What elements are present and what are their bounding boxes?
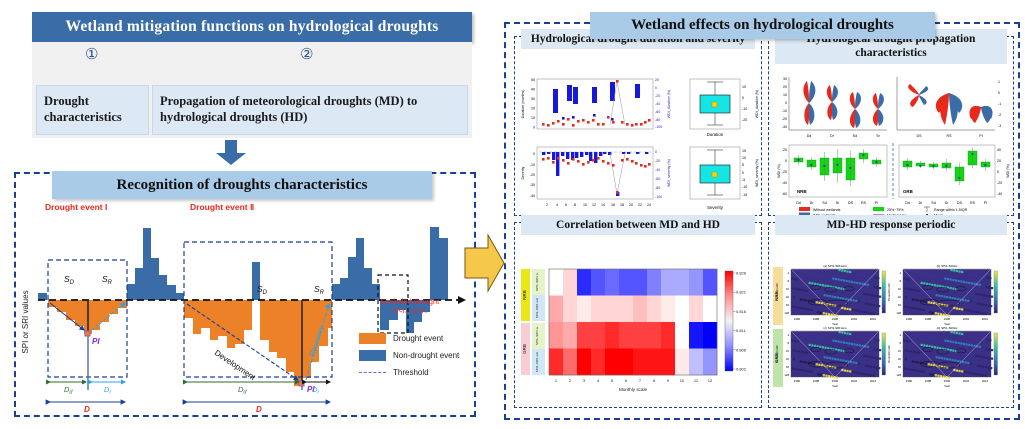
wavelet-x-tick: 1988: [813, 317, 820, 321]
event-1-sr-label: SR: [102, 274, 113, 286]
concept-box-propagation: Propagation of meteorological droughts (…: [152, 85, 468, 135]
wavelet-y-tick: 8: [787, 279, 789, 283]
circled-number-1: ①: [85, 45, 98, 63]
svg-text:Sd: Sd: [822, 201, 826, 205]
wavelet-y-tick: 16: [898, 349, 902, 353]
legend-label-threshold: Threshold: [393, 368, 429, 377]
svg-text:10: 10: [742, 156, 746, 160]
svg-text:Dd: Dd: [807, 134, 812, 138]
svg-text:20: 20: [783, 148, 787, 152]
wavelet-panel: (a) SPI1-SRI1w/oPeriod/month481632641281…: [775, 264, 886, 326]
svg-text:0: 0: [533, 152, 535, 156]
wavelet-x-tick: 2012: [982, 317, 989, 321]
svg-text:0: 0: [997, 170, 999, 174]
svg-text:WDI (%): WDI (%): [1006, 164, 1010, 178]
legend-label-drought: Drought event: [393, 334, 443, 343]
duration-timeseries-chart: Duration (months) 504030 20100 200-20 -4…: [521, 78, 671, 130]
wavelet-y-label: Period/month: [887, 345, 891, 363]
svg-text:Severity: Severity: [521, 166, 525, 179]
wavelet-y-label: Period/month: [775, 345, 779, 363]
quadrant-correlation-title: Correlation between MD and HD: [521, 215, 755, 235]
svg-text:0: 0: [655, 86, 657, 90]
heatmap-cell: [549, 269, 563, 296]
svg-text:-40: -40: [530, 194, 535, 198]
svg-text:0: 0: [742, 171, 744, 175]
svg-text:-40: -40: [655, 168, 660, 172]
quadrant-wavelet-title: MD-HD response periodic: [775, 215, 1007, 235]
quadrant-correlation-body: NRB GRB SPI1~SRI1 w SPI1~SRI1 w/o SPI1~S…: [515, 255, 761, 407]
svg-text:0: 0: [742, 96, 744, 100]
quadrant-duration-body: Duration (months) 504030 20100 200-20 -4…: [515, 73, 761, 215]
colorbar-ticks: 0.8260.8210.8160.8110.8060.802: [733, 271, 747, 372]
wavelet-y-tick: 64: [898, 303, 902, 307]
colorbar-tick: 0.816: [736, 309, 747, 314]
svg-text:50: 50: [531, 78, 535, 82]
heatmap-cell: [689, 349, 703, 376]
colorbar-tick: 0.802: [736, 367, 747, 372]
heatmap-cell: [549, 322, 563, 349]
violin-right-categories: DSRSPI: [917, 134, 983, 138]
heatmap-cell: [591, 269, 605, 296]
heatmap-cell: [591, 322, 605, 349]
svg-text:-40: -40: [655, 102, 660, 106]
main-title-banner: Wetland mitigation functions on hydrolog…: [32, 12, 472, 42]
heatmap-cell: [703, 296, 717, 323]
svg-text:24: 24: [647, 203, 651, 207]
svg-text:Duration (months): Duration (months): [521, 90, 525, 119]
wavelet-panel: (b) SPI1-SRI1wPeriod/month48163264128198…: [887, 264, 998, 326]
colorbar-tick: 0.806: [736, 347, 747, 352]
svg-text:20: 20: [629, 203, 633, 207]
quadrant-propagation-body: 302010 0-10-20 -30: [769, 73, 1013, 215]
colorbar-tick: 0.811: [736, 328, 746, 333]
wavelet-colorbar: [994, 333, 998, 375]
svg-text:-15: -15: [742, 193, 747, 197]
heatmap-cell: [675, 296, 689, 323]
heatmap-cell: [605, 269, 619, 296]
legend-swatch-non-drought: [359, 350, 386, 361]
svg-text:WDI (%): WDI (%): [777, 164, 781, 178]
event-1-sd-label: SD: [64, 274, 75, 286]
circled-number-2: ②: [300, 45, 313, 63]
wavelet-caption: (b) SPI1-SRI1w: [937, 264, 959, 268]
svg-text:DS: DS: [957, 201, 963, 205]
svg-text:40: 40: [997, 148, 1001, 152]
svg-text:Dd: Dd: [238, 385, 247, 396]
heatmap-cell: [605, 349, 619, 376]
svg-text:DS: DS: [917, 134, 923, 138]
heatmap-cell: [577, 269, 591, 296]
wavelet-y-tick: 16: [786, 287, 790, 291]
svg-text:Sd: Sd: [931, 201, 935, 205]
severity-boxplot: 15105 0-5 -10-15 WDI_severity (%) Severi…: [690, 147, 759, 210]
wavelet-x-tick: 2012: [870, 317, 877, 321]
diagram-legend: Drought event Non-drought event Threshol…: [359, 330, 459, 381]
wavelet-y-tick: 8: [787, 341, 789, 345]
wavelet-caption: (d) SPI1-SRI1w: [937, 326, 959, 330]
violin-left-categories: DdDr SdSr: [807, 134, 881, 138]
event-2-sr-label: SR: [314, 284, 325, 296]
svg-text:D: D: [256, 405, 262, 414]
svg-text:PI: PI: [875, 201, 878, 205]
quadrant-correlation: Correlation between MD and HD NRB GRB SP…: [514, 222, 762, 408]
heatmap-cell: [647, 322, 661, 349]
wavelet-y-label: Period/month: [887, 283, 891, 301]
heatmap-cell: [563, 349, 577, 376]
heatmap-cell: [689, 322, 703, 349]
wavelet-y-tick: 64: [786, 303, 790, 307]
wavelet-y-tick: 128: [896, 311, 901, 315]
correlation-heatmap: NRB GRB SPI1~SRI1 w SPI1~SRI1 w/o SPI1~S…: [515, 255, 763, 405]
svg-text:-20: -20: [742, 118, 747, 122]
svg-text:30: 30: [783, 77, 787, 81]
wavelet-x-tick: 1980: [906, 317, 913, 321]
wavelet-colorbar: [994, 271, 998, 313]
severity-x-ticks: 246 81012 141618 202224: [546, 203, 651, 207]
svg-text:Sr: Sr: [836, 201, 840, 205]
svg-text:0: 0: [533, 126, 535, 130]
heatmap-x-tick: 11: [694, 378, 699, 383]
heatmap-cell: [661, 349, 675, 376]
concept-box-drought-characteristics: Drought characteristics: [36, 85, 149, 135]
heatmap-cell: [633, 322, 647, 349]
wavelet-y-tick: 16: [786, 349, 790, 353]
heatmap-cell: [675, 349, 689, 376]
heatmap-row-label-0: SPI1~SRI1 w: [535, 272, 539, 291]
severity-box-category: Severity: [707, 205, 724, 210]
quadrant-propagation: Hydrological drought propagation charact…: [768, 36, 1014, 216]
svg-text:Dr: Dr: [830, 134, 835, 138]
heatmap-cell: [549, 296, 563, 323]
figure-root: Wetland mitigation functions on hydrolog…: [0, 0, 1025, 429]
svg-text:-30: -30: [782, 125, 787, 129]
heatmap-cell: [563, 269, 577, 296]
svg-text:-20: -20: [782, 117, 787, 121]
svg-text:-60: -60: [655, 177, 660, 181]
nrb-boxplot: WDI (%) 200-20 -40-60: [777, 145, 887, 205]
legend-item-threshold: Threshold: [359, 364, 459, 381]
wavelet-x-tick: 2004: [851, 379, 858, 383]
duration-box-category: Duration: [707, 132, 724, 137]
svg-text:Dd: Dd: [64, 385, 73, 396]
wavelet-caption: (a) SPI1-SRI1w/o: [823, 264, 847, 268]
wavelet-x-label: Year: [944, 384, 950, 388]
heatmap-cell: [661, 322, 675, 349]
legend-swatch-drought: [359, 333, 386, 344]
down-arrow-icon: [214, 140, 248, 166]
svg-text:Dr: Dr: [312, 385, 320, 396]
svg-text:18: 18: [620, 203, 624, 207]
heatmap-cell: [675, 269, 689, 296]
svg-text:WDI_duration (%): WDI_duration (%): [755, 90, 759, 119]
heatmap-cell: [633, 349, 647, 376]
diagram-y-axis-label: SPI or SRI values: [21, 290, 30, 353]
svg-text:Dd: Dd: [905, 201, 910, 205]
heatmap-cell: [563, 296, 577, 323]
heatmap-x-tick: 8: [653, 378, 656, 383]
wavelet-x-tick: 1996: [944, 379, 951, 383]
heatmap-cell: [647, 296, 661, 323]
heatmap-cell: [591, 349, 605, 376]
heatmap-x-tick: 1: [555, 378, 558, 383]
wavelet-y-tick: 128: [896, 373, 901, 377]
left-column: Wetland mitigation functions on hydrolog…: [0, 0, 490, 429]
wavelet-x-tick: 1980: [794, 317, 801, 321]
legend-item-drought-event: Drought event: [359, 330, 459, 347]
svg-text:-10: -10: [782, 109, 787, 113]
svg-text:20: 20: [783, 85, 787, 89]
heatmap-x-tick: 4: [597, 378, 600, 383]
recognition-title: Recognition of droughts characteristics: [52, 171, 432, 199]
wavelet-x-tick: 1980: [794, 379, 801, 383]
wavelet-y-tick: 4: [787, 271, 789, 275]
svg-text:DS: DS: [848, 201, 854, 205]
wavelet-y-tick: 8: [899, 279, 901, 283]
legend-without-wetlands: Without wetlands: [813, 208, 841, 212]
excluded-drought-line1: Excluded drought: [358, 297, 462, 306]
svg-text:5: 5: [742, 163, 744, 167]
legend-range-iqr: Range within 1.5IQR: [934, 208, 968, 212]
svg-text:20: 20: [655, 78, 659, 82]
svg-text:10: 10: [531, 116, 535, 120]
svg-text:Dd: Dd: [796, 201, 801, 205]
svg-text:Sr: Sr: [876, 134, 880, 138]
heatmap-cell: [619, 296, 633, 323]
wavelet-colorbar: [882, 271, 886, 313]
wavelet-y-tick: 32: [898, 295, 902, 299]
colorbar-tick: 0.821: [736, 290, 747, 295]
svg-text:30: 30: [531, 97, 535, 101]
svg-text:-80: -80: [655, 118, 660, 122]
wavelet-x-tick: 2012: [870, 379, 877, 383]
quadrant-wavelet: MD-HD response periodic NRB GRB (a) SPI1…: [768, 222, 1014, 408]
wavelet-x-tick: 1988: [925, 317, 932, 321]
svg-text:4: 4: [556, 203, 558, 207]
wavelet-x-tick: 2012: [982, 379, 989, 383]
heatmap-x-tick: 6: [625, 378, 628, 383]
svg-text:WDI_severity (%): WDI_severity (%): [667, 159, 671, 187]
heatmap-x-tick: 10: [680, 378, 685, 383]
wavelet-y-tick: 32: [898, 357, 902, 361]
svg-text:10: 10: [783, 93, 787, 97]
heatmap-cell: [703, 269, 717, 296]
event-1-pi-marker: [85, 331, 90, 336]
heatmap-cell: [619, 269, 633, 296]
wavelet-colorbar: [882, 333, 886, 375]
duration-severity-charts: Duration (months) 504030 20100 200-20 -4…: [515, 73, 763, 217]
svg-text:WDI_duration (%): WDI_duration (%): [667, 90, 671, 119]
svg-text:14: 14: [601, 203, 605, 207]
heatmap-cell: [661, 269, 675, 296]
excluded-drought-line2: D<r₆, S<rₛ: [358, 306, 462, 315]
svg-text:-20: -20: [997, 181, 1002, 185]
wavelet-y-tick: 8: [899, 341, 901, 345]
legend-line-threshold: [359, 372, 386, 373]
svg-text:15: 15: [742, 149, 746, 153]
svg-text:-20: -20: [655, 159, 660, 163]
wavelet-y-tick: 32: [786, 295, 790, 299]
legend-label-non-drought: Non-drought event: [393, 351, 459, 360]
svg-text:6: 6: [565, 203, 567, 207]
heatmap-row-label-2: SPI1~SRI1 w: [535, 326, 539, 345]
svg-text:Dr: Dr: [919, 201, 924, 205]
svg-text:RS: RS: [947, 134, 953, 138]
svg-text:-100: -100: [655, 195, 662, 199]
quadrant-wavelet-body: NRB GRB (a) SPI1-SRI1w/oPeriod/month4816…: [769, 255, 1013, 407]
heatmap-cell: [633, 296, 647, 323]
svg-text:Dr: Dr: [104, 385, 112, 396]
wavelet-x-tick: 1988: [925, 379, 932, 383]
heatmap-x-tick: 12: [708, 378, 713, 383]
heatmap-cell: [689, 269, 703, 296]
wavelet-x-tick: 1996: [832, 379, 839, 383]
wavelet-y-tick: 16: [898, 287, 902, 291]
svg-text:-40: -40: [997, 192, 1002, 196]
wavelet-y-tick: 128: [784, 311, 789, 315]
svg-text:-10: -10: [530, 163, 535, 167]
heatmap-cell: [619, 349, 633, 376]
wavelet-x-tick: 2004: [963, 379, 970, 383]
heatmap-cell: [647, 269, 661, 296]
wavelet-x-tick: 1988: [813, 379, 820, 383]
svg-text:-20: -20: [655, 94, 660, 98]
wavelet-y-tick: 32: [786, 357, 790, 361]
wavelet-y-tick: 4: [899, 271, 901, 275]
svg-text:-20: -20: [782, 170, 787, 174]
svg-text:-2: -2: [998, 113, 1001, 117]
svg-text:-3: -3: [998, 124, 1001, 128]
svg-text:0: 0: [785, 159, 787, 163]
heatmap-colorbar: [725, 271, 733, 371]
svg-text:-40: -40: [782, 181, 787, 185]
severity-timeseries-chart: Severity 0-10 -20-30-40 0-20-40 -60-80-1…: [521, 147, 671, 207]
wavelet-y-tick: 64: [898, 365, 902, 369]
wavelet-panel: (c) SPI1-SRI1w/oPeriod/month481632641281…: [775, 326, 886, 388]
right-title-banner: Wetland effects on hydrological droughts: [590, 12, 935, 39]
heatmap-cell: [577, 349, 591, 376]
svg-text:-100: -100: [655, 125, 662, 129]
svg-text:RS: RS: [861, 201, 867, 205]
svg-text:-10: -10: [742, 107, 747, 111]
heatmap-x-tick: 3: [583, 378, 586, 383]
heatmap-cell: [661, 296, 675, 323]
wavelet-y-tick: 64: [786, 365, 790, 369]
drought-event-1-label: Drought event I: [45, 202, 107, 212]
heatmap-cell: [549, 349, 563, 376]
heatmap-x-ticks: 123456789101112: [555, 378, 713, 383]
wavelet-x-tick: 1996: [832, 317, 839, 321]
svg-text:0: 0: [655, 150, 657, 154]
heatmap-cells: [549, 269, 717, 375]
svg-text:10: 10: [583, 203, 587, 207]
svg-text:WDI_severity (%): WDI_severity (%): [755, 159, 759, 187]
svg-text:Dr: Dr: [810, 201, 815, 205]
duration-boxplot: 100 -10-20 WDI_duration (%) Duration: [690, 79, 759, 137]
heatmap-cell: [703, 322, 717, 349]
svg-text:PI: PI: [984, 201, 987, 205]
svg-text:12: 12: [592, 203, 596, 207]
heatmap-x-tick: 2: [569, 378, 572, 383]
heatmap-row-label-3: SPI1~SRI1 w/o: [535, 351, 539, 372]
excluded-drought-label: Excluded drought D<r₆, S<rₛ: [358, 297, 462, 316]
grb-group-label: GRB: [903, 189, 913, 194]
wavelet-y-tick: 4: [899, 333, 901, 337]
wavelet-y-label: Period/month: [775, 283, 779, 301]
svg-text:40: 40: [531, 88, 535, 92]
heatmap-cell: [605, 322, 619, 349]
heatmap-cell: [619, 322, 633, 349]
wavelet-y-tick: 128: [784, 373, 789, 377]
wavelet-panels: NRB GRB (a) SPI1-SRI1w/oPeriod/month4816…: [769, 255, 1015, 405]
heatmap-x-tick: 9: [667, 378, 670, 383]
svg-text:Sd: Sd: [853, 134, 857, 138]
heatmap-x-label: Monthly scale: [619, 387, 648, 392]
grb-boxplot: 40200 -20-40 WDI (%) GRB DdDrSd SrDSRS P…: [899, 145, 1010, 205]
legend-iqr: 25%~75%: [887, 208, 904, 212]
wavelet-x-tick: 2004: [963, 317, 970, 321]
right-column: Wetland effects on hydrological droughts…: [498, 0, 1025, 429]
svg-text:-5: -5: [742, 178, 745, 182]
heatmap-cell: [647, 349, 661, 376]
heatmap-cell: [577, 296, 591, 323]
svg-text:-80: -80: [655, 186, 660, 190]
heatmap-cell: [689, 296, 703, 323]
wavelet-x-tick: 2004: [851, 317, 858, 321]
heatmap-cell: [577, 322, 591, 349]
svg-text:20: 20: [997, 159, 1001, 163]
svg-text:-10: -10: [742, 185, 747, 189]
svg-text:-60: -60: [782, 192, 787, 196]
svg-text:-60: -60: [655, 110, 660, 114]
colorbar-tick: 0.826: [736, 271, 747, 276]
wavelet-x-tick: 1980: [906, 379, 913, 383]
svg-text:20: 20: [531, 107, 535, 111]
svg-text:0: 0: [785, 101, 787, 105]
drought-event-2-area: [184, 300, 332, 386]
svg-text:16: 16: [611, 203, 615, 207]
nrb-group-label: NRB: [797, 189, 807, 194]
wavelet-x-tick: 1996: [944, 317, 951, 321]
svg-text:10: 10: [742, 85, 746, 89]
quadrant-duration-severity: Hydrological drought duration and severi…: [514, 36, 762, 216]
wavelet-y-tick: 4: [787, 333, 789, 337]
heatmap-cell: [591, 296, 605, 323]
svg-text:PI: PI: [979, 134, 982, 138]
legend-item-non-drought-event: Non-drought event: [359, 347, 459, 364]
wavelet-panel: (d) SPI1-SRI1wPeriod/month48163264128198…: [887, 326, 998, 388]
svg-text:0: 0: [998, 91, 1000, 95]
violin-box-charts: 302010 0-10-20 -30: [769, 73, 1015, 217]
svg-text:D: D: [84, 405, 90, 414]
svg-text:-30: -30: [530, 183, 535, 187]
svg-text:2: 2: [546, 203, 548, 207]
svg-text:Sr: Sr: [945, 201, 949, 205]
wavelet-x-label: Year: [832, 384, 838, 388]
wavelet-caption: (c) SPI1-SRI1w/o: [823, 326, 847, 330]
heatmap-x-tick: 5: [611, 378, 614, 383]
drought-event-2-label: Drought event Ⅱ: [190, 202, 254, 213]
svg-text:22: 22: [638, 203, 642, 207]
svg-text:RS: RS: [970, 201, 976, 205]
heatmap-group-grb: GRB: [522, 344, 527, 354]
heatmap-row-label-1: SPI1~SRI1 w/o: [535, 297, 539, 318]
svg-text:-1: -1: [998, 102, 1001, 106]
event-1-pi-label: PI: [92, 337, 100, 346]
svg-text:1: 1: [998, 80, 1000, 84]
heatmap-cell: [563, 322, 577, 349]
heatmap-cell: [633, 269, 647, 296]
event-2-pi-marker: [299, 381, 304, 386]
